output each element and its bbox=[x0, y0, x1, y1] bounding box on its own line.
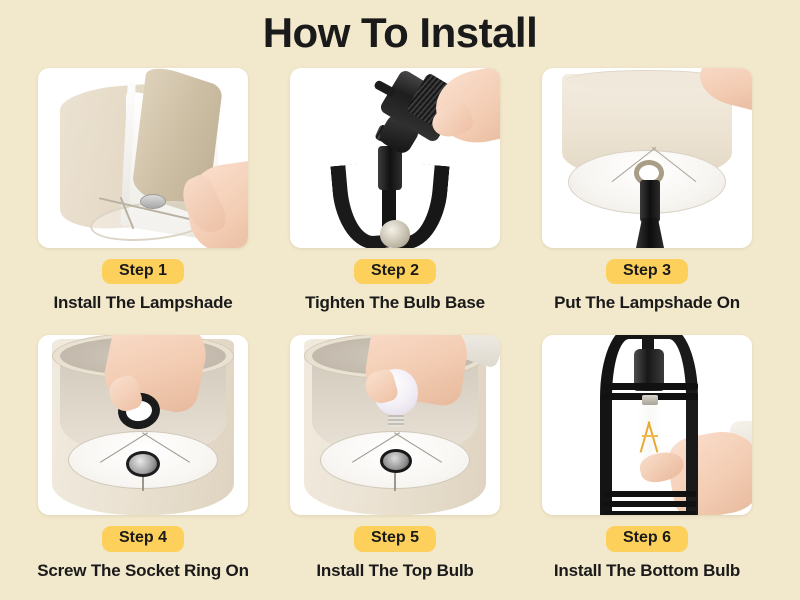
step-image-2 bbox=[290, 68, 500, 248]
steps-row-2: Step 4 Screw The Socket Ring On bbox=[38, 335, 752, 580]
cage-band-shape bbox=[604, 501, 696, 507]
cage-band-shape bbox=[604, 491, 696, 497]
step-image-1 bbox=[38, 68, 248, 248]
step-badge-5: Step 5 bbox=[354, 526, 436, 551]
step-caption-2: Tighten The Bulb Base bbox=[305, 293, 485, 313]
socket-ring-illustration bbox=[38, 335, 248, 515]
steps-row-1: Step 1 Install The Lampshade bbox=[38, 68, 752, 313]
bulb-filament-shape bbox=[642, 435, 658, 437]
lamp-neck-shape bbox=[636, 218, 664, 248]
how-to-install-infographic: How To Install bbox=[0, 0, 800, 600]
bottom-bulb-illustration bbox=[542, 335, 752, 515]
steps-grid: Step 1 Install The Lampshade bbox=[38, 68, 752, 581]
lower-bulb-shape bbox=[380, 220, 410, 248]
step-caption-1: Install The Lampshade bbox=[53, 293, 232, 313]
step-image-3 bbox=[542, 68, 752, 248]
edison-bulb-base-shape bbox=[642, 395, 658, 405]
step-caption-5: Install The Top Bulb bbox=[316, 561, 473, 581]
cage-band-shape bbox=[604, 511, 696, 515]
step-image-6 bbox=[542, 335, 752, 515]
lamp-socket-shape bbox=[640, 180, 660, 222]
step-card-6: Step 6 Install The Bottom Bulb bbox=[542, 335, 752, 580]
step-badge-3: Step 3 bbox=[606, 259, 688, 284]
step-badge-4: Step 4 bbox=[102, 526, 184, 551]
step-badge-1: Step 1 bbox=[102, 259, 184, 284]
page-title: How To Install bbox=[0, 0, 800, 54]
step-card-5: Step 5 Install The Top Bulb bbox=[290, 335, 500, 580]
top-bulb-illustration bbox=[290, 335, 500, 515]
step-card-4: Step 4 Screw The Socket Ring On bbox=[38, 335, 248, 580]
bulb-base-illustration bbox=[290, 68, 500, 248]
step-badge-2: Step 2 bbox=[354, 259, 436, 284]
step-caption-3: Put The Lampshade On bbox=[554, 293, 740, 313]
step-card-3: Step 3 Put The Lampshade On bbox=[542, 68, 752, 313]
cage-band-shape bbox=[602, 383, 698, 390]
step-image-5 bbox=[290, 335, 500, 515]
step-caption-6: Install The Bottom Bulb bbox=[554, 561, 740, 581]
step-caption-4: Screw The Socket Ring On bbox=[37, 561, 249, 581]
lampshade-on-lamp-illustration bbox=[542, 68, 752, 248]
step-image-4 bbox=[38, 335, 248, 515]
lampshade-unrolling-illustration bbox=[38, 68, 248, 248]
step-badge-6: Step 6 bbox=[606, 526, 688, 551]
step-card-2: Step 2 Tighten The Bulb Base bbox=[290, 68, 500, 313]
shade-socket-shape bbox=[140, 194, 166, 209]
step-card-1: Step 1 Install The Lampshade bbox=[38, 68, 248, 313]
